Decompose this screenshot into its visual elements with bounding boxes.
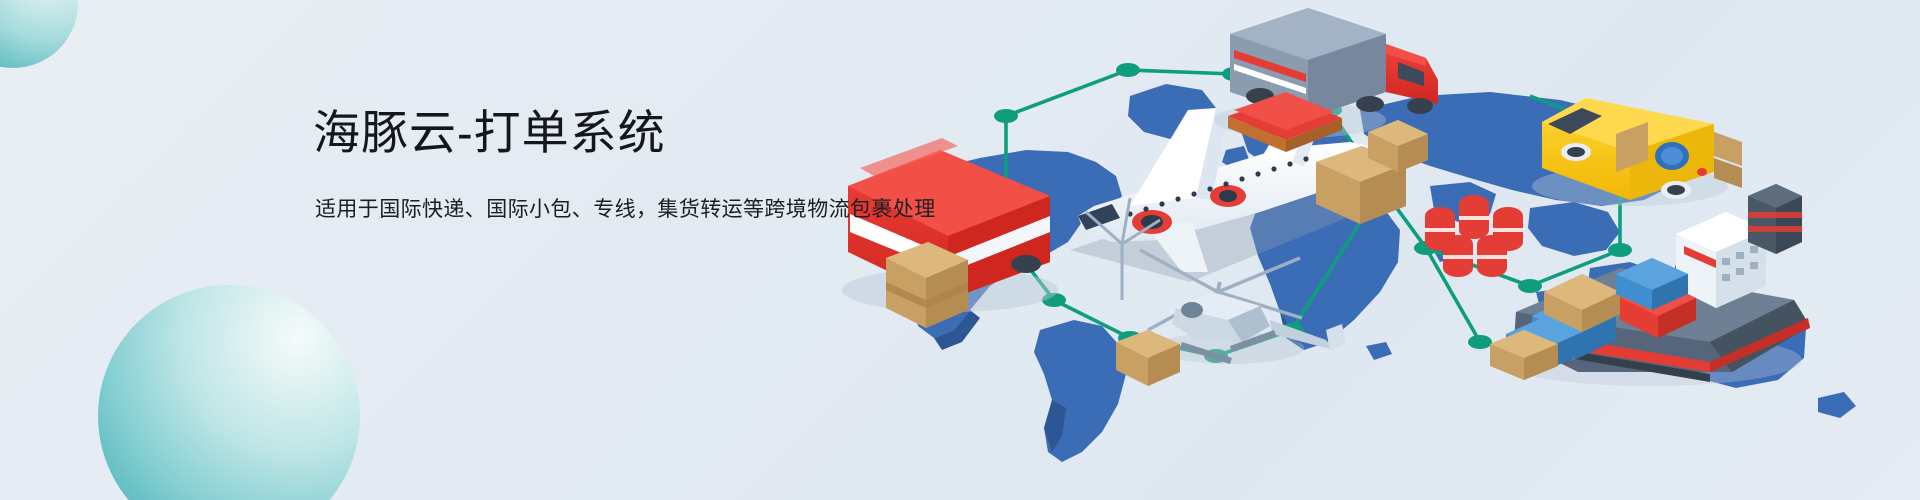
- banner-text-block: 海豚云-打单系统 适用于国际快递、国际小包、专线，集货转运等跨境物流包裹处理: [313, 104, 936, 224]
- cardboard-boxes: [886, 242, 968, 328]
- hero-banner: 海豚云-打单系统 适用于国际快递、国际小包、专线，集货转运等跨境物流包裹处理: [0, 0, 1920, 500]
- decorative-circle-top-left: [0, 0, 78, 68]
- page-subtitle: 适用于国际快递、国际小包、专线，集货转运等跨境物流包裹处理: [315, 195, 936, 224]
- decorative-circle-bottom-left: [98, 285, 360, 500]
- page-title: 海豚云-打单系统: [313, 104, 936, 163]
- yellow-delivery-van: [1532, 98, 1742, 206]
- logistics-illustration: [830, 0, 1920, 500]
